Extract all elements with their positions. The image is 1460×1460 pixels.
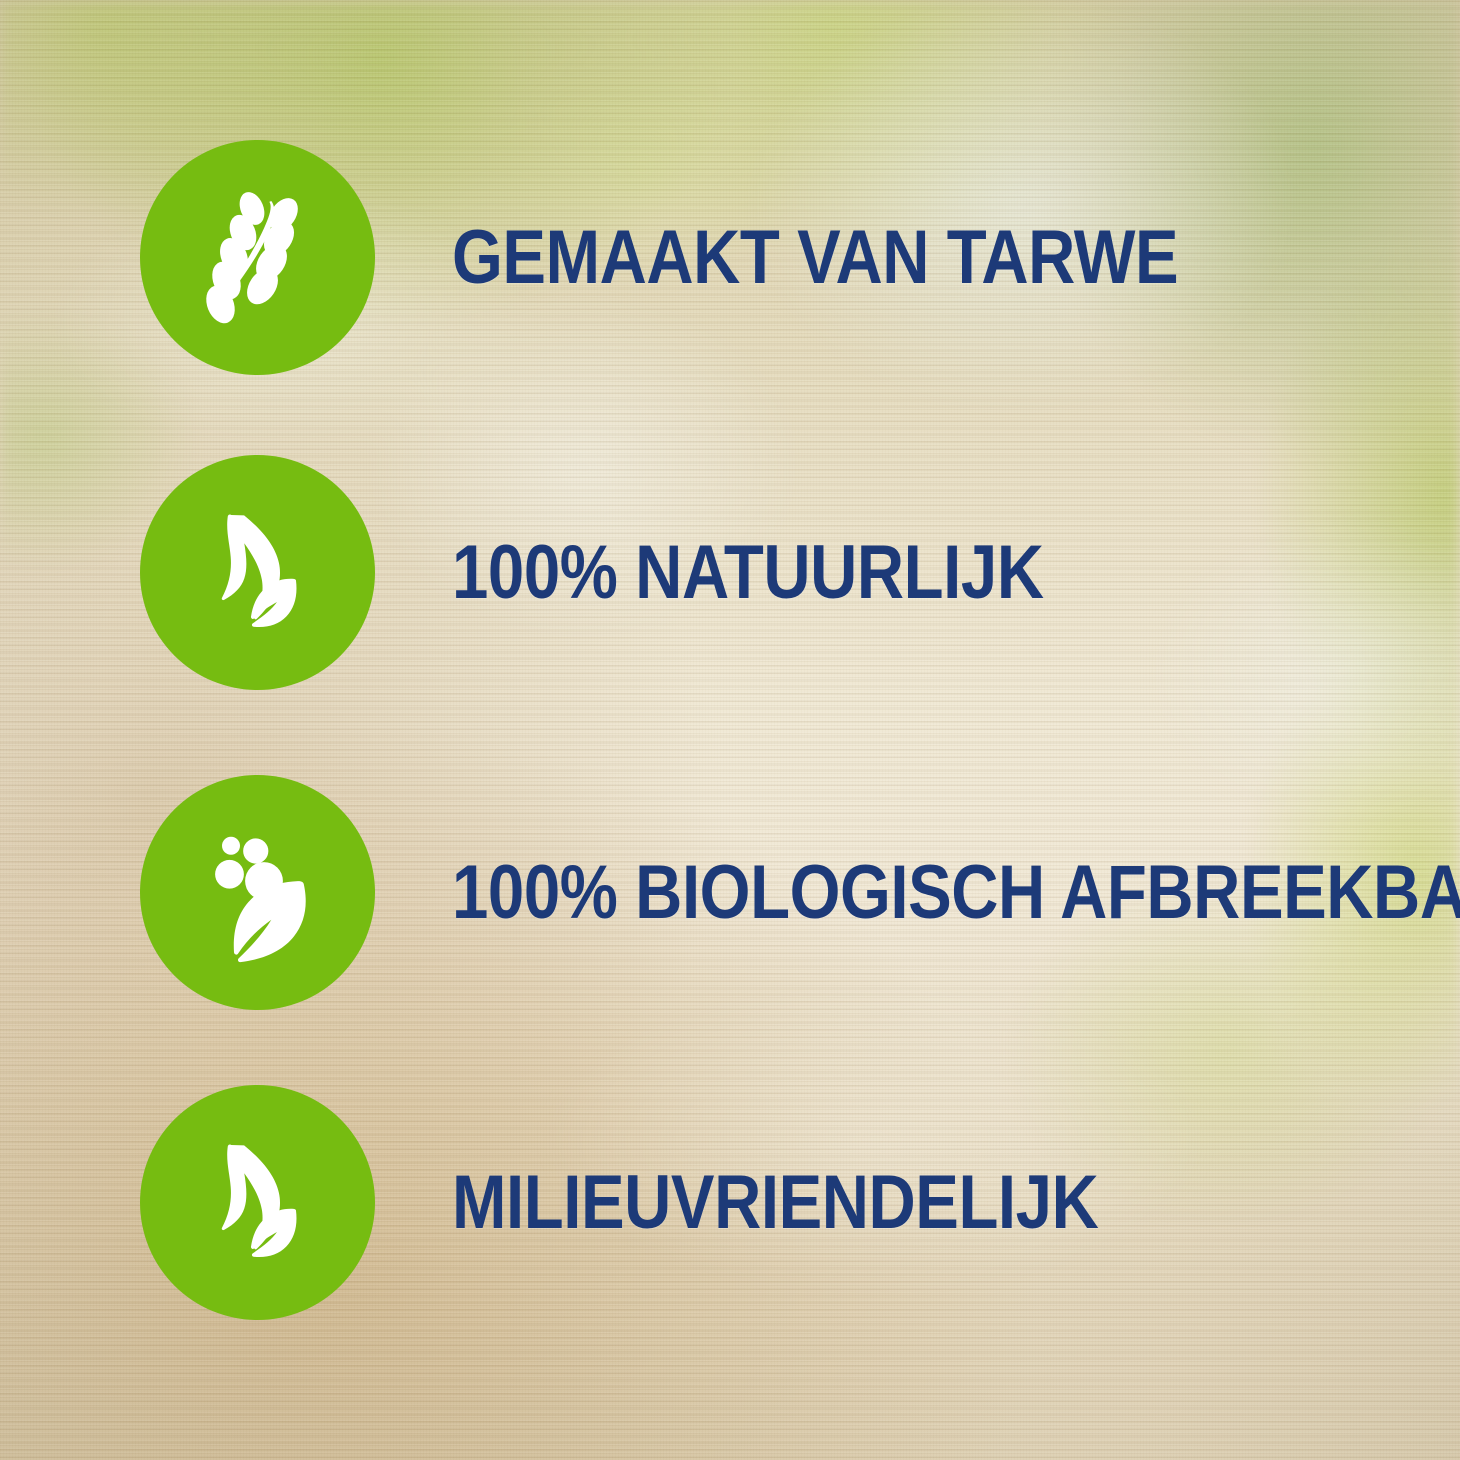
leaf-icon	[185, 1130, 331, 1276]
feature-row-natural: 100% NATUURLIJK	[0, 455, 1460, 690]
eco-benefits-poster: GEMAAKT VAN TARWE 100% NATUURLIJK	[0, 0, 1460, 1460]
leaf-with-bubbles-icon	[183, 818, 333, 968]
feature-label-biodegradable: 100% BIOLOGISCH AFBREEKBAAR	[452, 855, 1460, 931]
feature-label-eco-friendly: MILIEUVRIENDELIJK	[452, 1165, 1098, 1241]
feature-label-natural: 100% NATUURLIJK	[452, 535, 1044, 611]
feature-row-eco-friendly: MILIEUVRIENDELIJK	[0, 1085, 1460, 1320]
feature-list: GEMAAKT VAN TARWE 100% NATUURLIJK	[0, 0, 1460, 1460]
feature-label-made-of-wheat: GEMAAKT VAN TARWE	[452, 220, 1178, 296]
badge-made-of-wheat	[140, 140, 375, 375]
feature-row-made-of-wheat: GEMAAKT VAN TARWE	[0, 140, 1460, 375]
badge-natural	[140, 455, 375, 690]
feature-row-biodegradable: 100% BIOLOGISCH AFBREEKBAAR	[0, 775, 1460, 1010]
badge-biodegradable	[140, 775, 375, 1010]
badge-eco-friendly	[140, 1085, 375, 1320]
wheat-stalk-icon	[183, 183, 333, 333]
leaf-icon	[185, 500, 331, 646]
